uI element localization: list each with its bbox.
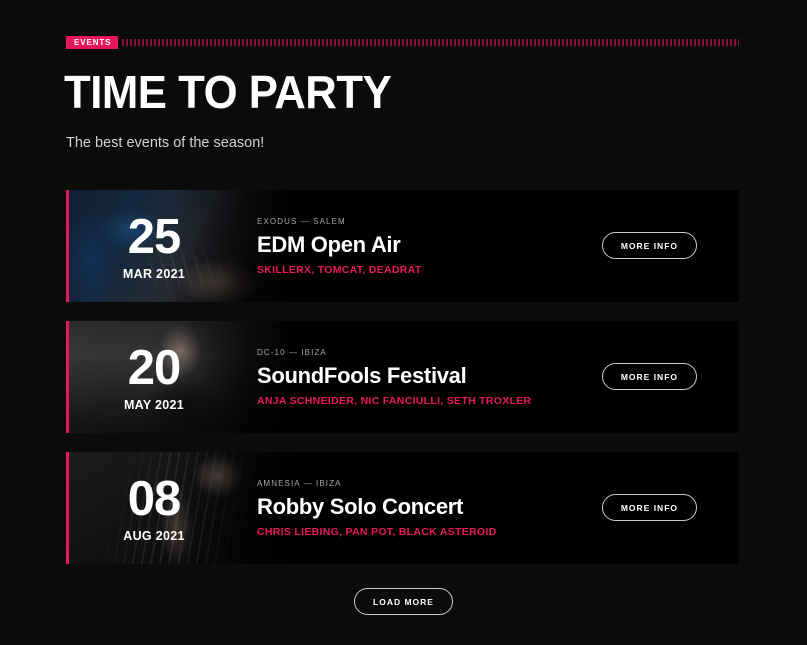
dashed-rule-divider [122, 39, 739, 46]
event-lineup: CHRIS LIEBING, PAN POT, BLACK ASTEROID [257, 526, 657, 539]
more-info-button[interactable]: MORE INFO [602, 232, 697, 259]
event-list: 25 MAR 2021 EXODUS — SALEM EDM Open Air … [66, 190, 739, 583]
event-date: 20 MAY 2021 [89, 321, 219, 433]
load-more-row: LOAD MORE [0, 588, 807, 615]
event-month-year: AUG 2021 [123, 529, 184, 543]
event-info: DC-10 — IBIZA SoundFools Festival ANJA S… [257, 347, 657, 408]
load-more-button[interactable]: LOAD MORE [354, 588, 453, 615]
event-month-year: MAR 2021 [123, 267, 185, 281]
event-day: 20 [128, 343, 181, 393]
event-card[interactable]: 25 MAR 2021 EXODUS — SALEM EDM Open Air … [66, 190, 739, 302]
events-badge: EVENTS [66, 36, 118, 49]
more-info-button[interactable]: MORE INFO [602, 363, 697, 390]
event-info: AMNESIA — IBIZA Robby Solo Concert CHRIS… [257, 478, 657, 539]
page-subtitle: The best events of the season! [66, 134, 264, 152]
event-month-year: MAY 2021 [124, 398, 184, 412]
event-venue: AMNESIA — IBIZA [257, 478, 657, 489]
event-day: 08 [128, 474, 181, 524]
event-lineup: SKILLERX, TOMCAT, DEADRAT [257, 264, 657, 277]
event-date: 25 MAR 2021 [89, 190, 219, 302]
event-name: EDM Open Air [257, 232, 657, 258]
event-card[interactable]: 20 MAY 2021 DC-10 — IBIZA SoundFools Fes… [66, 321, 739, 433]
event-action: MORE INFO [602, 232, 697, 259]
event-action: MORE INFO [602, 363, 697, 390]
event-day: 25 [128, 212, 181, 262]
event-venue: DC-10 — IBIZA [257, 347, 657, 358]
more-info-button[interactable]: MORE INFO [602, 494, 697, 521]
page-title: TIME TO PARTY [64, 68, 391, 116]
events-page: EVENTS TIME TO PARTY The best events of … [0, 0, 807, 645]
event-lineup: ANJA SCHNEIDER, NIC FANCIULLI, SETH TROX… [257, 395, 657, 408]
eyebrow-row: EVENTS [66, 36, 739, 49]
event-action: MORE INFO [602, 494, 697, 521]
event-name: Robby Solo Concert [257, 494, 657, 520]
event-info: EXODUS — SALEM EDM Open Air SKILLERX, TO… [257, 216, 657, 277]
event-card[interactable]: 08 AUG 2021 AMNESIA — IBIZA Robby Solo C… [66, 452, 739, 564]
event-date: 08 AUG 2021 [89, 452, 219, 564]
event-venue: EXODUS — SALEM [257, 216, 657, 227]
event-name: SoundFools Festival [257, 363, 657, 389]
